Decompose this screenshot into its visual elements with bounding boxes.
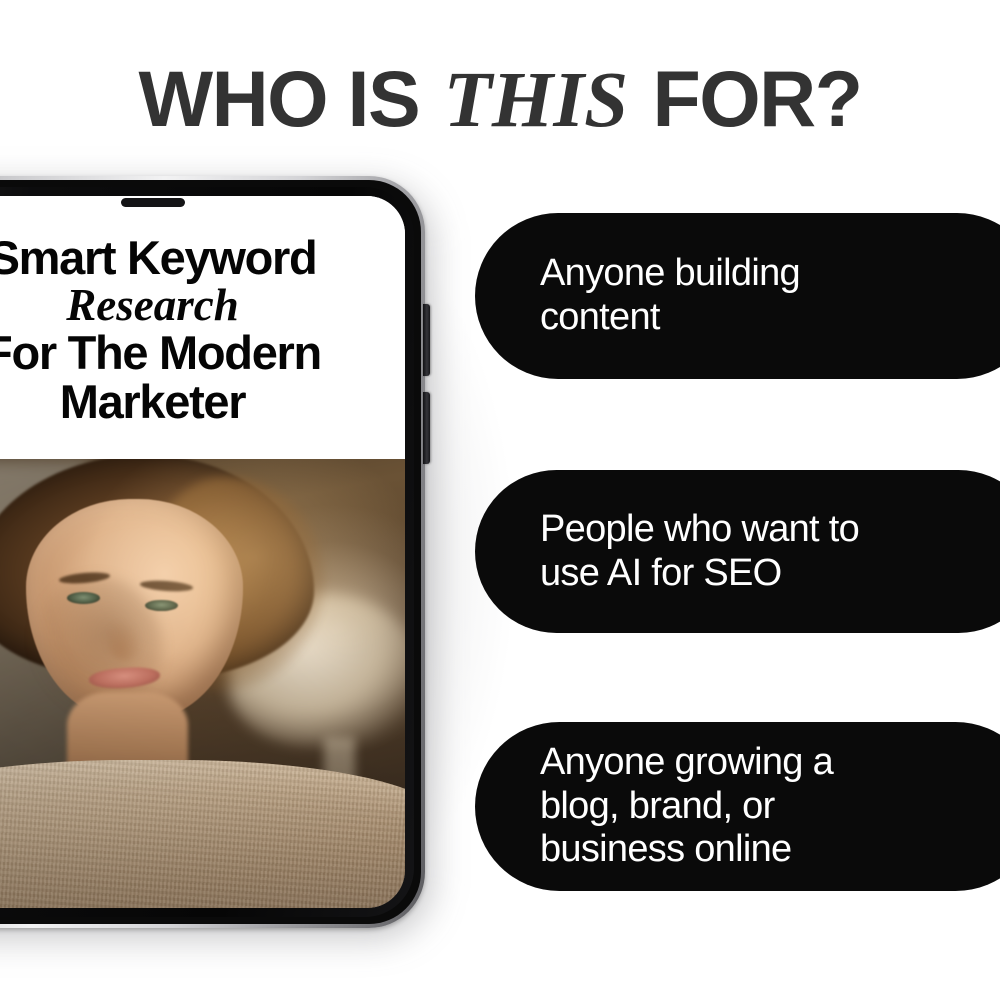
ebook-title-line-1: Smart Keyword (0, 234, 316, 283)
phone-screen: Smart Keyword Research For The Modern Ma… (0, 196, 405, 908)
audience-pill-label: Anyone building content (475, 252, 830, 340)
ebook-title-line-4: Marketer (60, 378, 246, 427)
page-title-part2: FOR? (652, 54, 861, 143)
page-title: WHO IS THIS FOR? (0, 58, 1000, 143)
volume-down-button[interactable] (423, 392, 430, 464)
page-title-part1: WHO IS (139, 54, 420, 143)
photo-eye-left (67, 592, 100, 604)
audience-pill[interactable]: Anyone growing a blog, brand, or busines… (475, 722, 1000, 891)
photo-eye-right (145, 600, 178, 612)
photo-sweater (0, 760, 405, 908)
ebook-cover-title-block: Smart Keyword Research For The Modern Ma… (0, 196, 405, 459)
photo-sweater-texture (0, 760, 405, 908)
audience-pill-label: People who want to use AI for SEO (475, 508, 889, 596)
audience-pill-label: Anyone growing a blog, brand, or busines… (475, 741, 863, 873)
ebook-title-line-2: Research (66, 282, 239, 329)
earpiece-speaker-icon (121, 198, 185, 207)
volume-up-button[interactable] (423, 304, 430, 376)
ebook-title-line-3: For The Modern (0, 329, 321, 378)
ebook-cover-photo (0, 459, 405, 908)
slide-canvas: WHO IS THIS FOR? Smart Keyword Research … (0, 0, 1000, 1000)
phone-mockup: Smart Keyword Research For The Modern Ma… (0, 176, 425, 928)
audience-pill[interactable]: Anyone building content (475, 213, 1000, 379)
page-title-emphasis: THIS (440, 57, 632, 144)
audience-pill[interactable]: People who want to use AI for SEO (475, 470, 1000, 633)
